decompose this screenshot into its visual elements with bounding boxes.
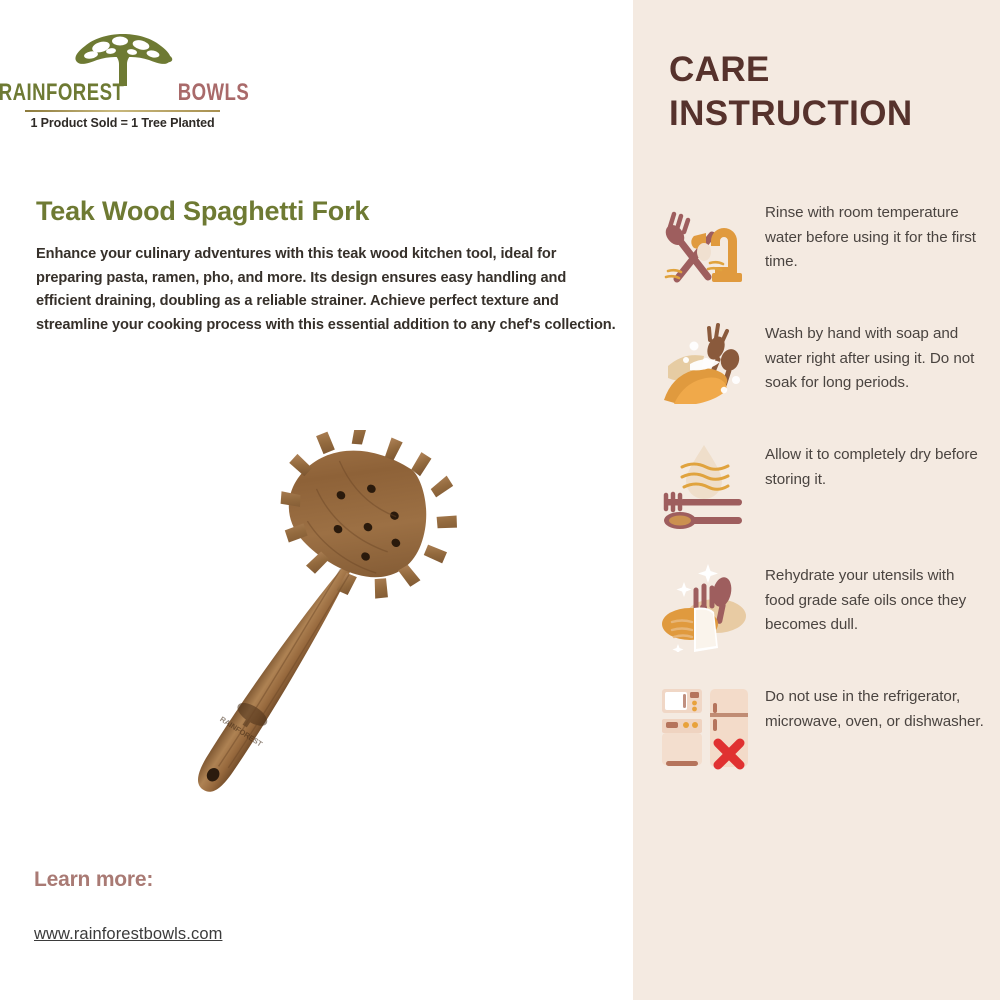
care-instruction-panel: CARE INSTRUCTION — [633, 0, 1000, 1000]
care-item: Wash by hand with soap and water right a… — [633, 314, 1000, 414]
air-dry-utensils-icon — [657, 435, 755, 535]
website-link[interactable]: www.rainforestbowls.com — [34, 925, 222, 944]
product-title: Teak Wood Spaghetti Fork — [36, 196, 369, 227]
wordmark-rainforest: RAINFOREST — [0, 80, 124, 107]
care-instruction-heading: CARE INSTRUCTION — [669, 48, 913, 136]
oil-polish-cloth-icon — [657, 556, 755, 656]
brand-tagline: 1 Product Sold = 1 Tree Planted — [25, 116, 220, 130]
product-description: Enhance your culinary adventures with th… — [36, 243, 616, 338]
care-item: Allow it to completely dry before storin… — [633, 435, 1000, 535]
care-instruction-list: Rinse with room temperature water before… — [633, 193, 1000, 798]
care-item: Do not use in the refrigerator, microwav… — [633, 677, 1000, 777]
infographic-page: RAINFOREST BOWLS 1 Product Sold = 1 Tree… — [0, 0, 1000, 1000]
product-image-spaghetti-fork: RAINFOREST — [60, 430, 580, 860]
care-item-text: Do not use in the refrigerator, microwav… — [755, 677, 986, 734]
brand-wordmark: RAINFOREST BOWLS — [25, 82, 220, 105]
logo-divider-rule — [25, 110, 220, 112]
care-item-text: Allow it to completely dry before storin… — [755, 435, 986, 492]
left-panel: RAINFOREST BOWLS 1 Product Sold = 1 Tree… — [0, 0, 633, 1000]
care-item-text: Rehydrate your utensils with food grade … — [755, 556, 986, 638]
wordmark-bowls: BOWLS — [177, 80, 249, 107]
no-appliances-icon — [657, 677, 755, 777]
learn-more-label: Learn more: — [34, 868, 153, 892]
care-item-text: Wash by hand with soap and water right a… — [755, 314, 986, 396]
hand-wash-soap-icon — [657, 314, 755, 414]
care-item: Rehydrate your utensils with food grade … — [633, 556, 1000, 656]
care-item-text: Rinse with room temperature water before… — [755, 193, 986, 275]
care-heading-line2: INSTRUCTION — [669, 92, 913, 136]
faucet-rinse-utensils-icon — [657, 193, 755, 293]
brand-logo: RAINFOREST BOWLS 1 Product Sold = 1 Tree… — [25, 30, 220, 130]
care-item: Rinse with room temperature water before… — [633, 193, 1000, 293]
care-heading-line1: CARE — [669, 48, 913, 92]
